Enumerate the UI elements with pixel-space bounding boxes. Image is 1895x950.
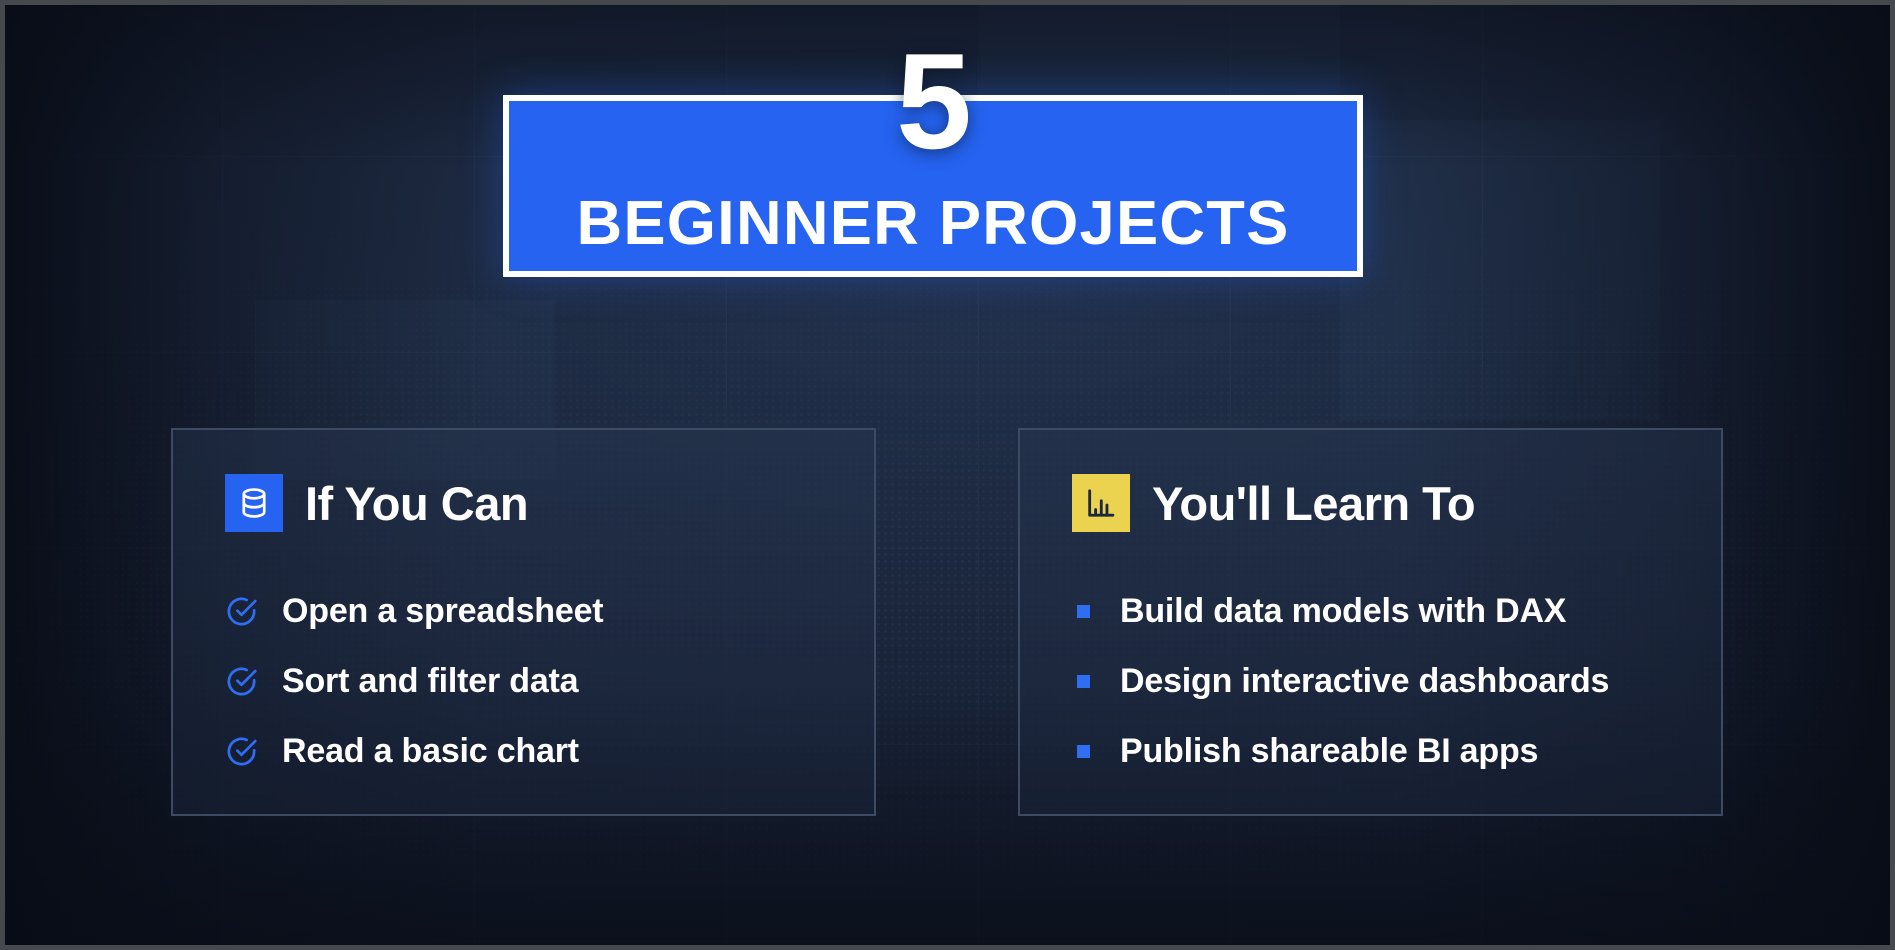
list-item-label: Publish shareable BI apps [1120, 734, 1538, 768]
card-left-list: Open a spreadsheet Sort and filter data [225, 576, 844, 786]
list-item: Read a basic chart [225, 716, 844, 786]
circle-check-icon [225, 735, 258, 768]
list-item: Open a spreadsheet [225, 576, 844, 646]
list-item: Publish shareable BI apps [1072, 716, 1691, 786]
square-bullet-icon [1077, 745, 1090, 758]
card-right-list: Build data models with DAX Design intera… [1072, 576, 1691, 786]
presentation-slide: BEGINNER PROJECTS 5 If You Can [0, 0, 1895, 950]
list-item-label: Sort and filter data [282, 664, 578, 698]
banner-title-text: BEGINNER PROJECTS [501, 193, 1366, 255]
banner-number-text: 5 [503, 33, 1363, 169]
card-right-title: You'll Learn To [1152, 480, 1475, 527]
card-if-you-can: If You Can Open a spreadsheet [171, 428, 876, 816]
square-bullet-icon [1077, 675, 1090, 688]
circle-check-icon [225, 665, 258, 698]
list-item-label: Build data models with DAX [1120, 594, 1566, 628]
bar-chart-icon [1072, 474, 1130, 532]
circle-check-icon [225, 595, 258, 628]
list-item: Design interactive dashboards [1072, 646, 1691, 716]
list-item-label: Design interactive dashboards [1120, 664, 1609, 698]
list-item: Build data models with DAX [1072, 576, 1691, 646]
card-youll-learn-to: You'll Learn To Build data models with D… [1018, 428, 1723, 816]
list-item: Sort and filter data [225, 646, 844, 716]
list-item-label: Read a basic chart [282, 734, 579, 768]
list-item-label: Open a spreadsheet [282, 594, 603, 628]
card-right-header: You'll Learn To [1072, 474, 1475, 532]
card-left-title: If You Can [305, 480, 528, 527]
database-icon [225, 474, 283, 532]
title-banner: BEGINNER PROJECTS 5 [503, 95, 1363, 277]
square-bullet-icon [1077, 605, 1090, 618]
card-left-header: If You Can [225, 474, 528, 532]
